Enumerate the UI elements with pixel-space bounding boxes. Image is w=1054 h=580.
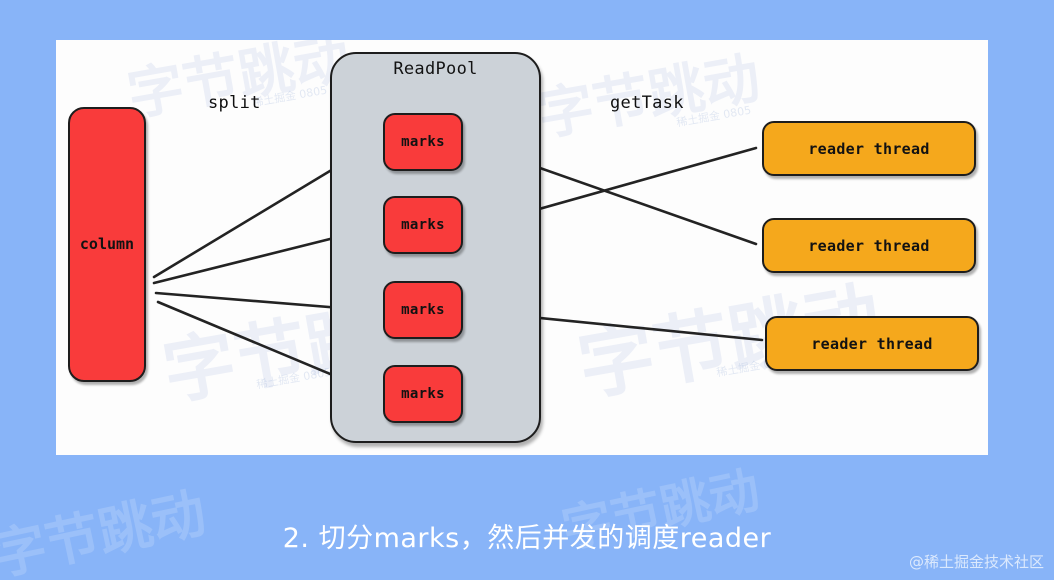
label-get-task: getTask — [610, 93, 684, 113]
node-marks-label: marks — [401, 302, 445, 318]
label-split: split — [208, 93, 261, 113]
slide-root: 字节跳动 字节跳动 字节跳动 稀土掘金 0805 字节跳动 稀土掘金 0805 … — [0, 0, 1054, 580]
node-reader-thread[interactable]: reader thread — [762, 218, 976, 273]
node-reader-thread-label: reader thread — [808, 140, 929, 158]
slide-caption: 2. 切分marks，然后并发的调度reader — [0, 516, 1054, 555]
node-readpool-title: ReadPool — [393, 59, 477, 79]
node-column-label: column — [80, 236, 134, 253]
diagram-canvas: 字节跳动 稀土掘金 0805 字节跳动 稀土掘金 0805 字节跳动 稀土掘金 … — [56, 40, 988, 455]
node-reader-thread[interactable]: reader thread — [762, 121, 976, 176]
node-reader-thread-label: reader thread — [811, 335, 932, 353]
node-marks[interactable]: marks — [383, 281, 463, 339]
node-reader-thread[interactable]: reader thread — [765, 316, 979, 371]
node-marks-label: marks — [401, 134, 445, 150]
node-marks-label: marks — [401, 386, 445, 402]
node-marks[interactable]: marks — [383, 365, 463, 423]
node-reader-thread-label: reader thread — [808, 237, 929, 255]
node-marks[interactable]: marks — [383, 196, 463, 254]
node-marks[interactable]: marks — [383, 113, 463, 171]
corner-watermark: @稀土掘金技术社区 — [909, 551, 1044, 572]
node-column[interactable]: column — [68, 107, 146, 382]
node-marks-label: marks — [401, 217, 445, 233]
